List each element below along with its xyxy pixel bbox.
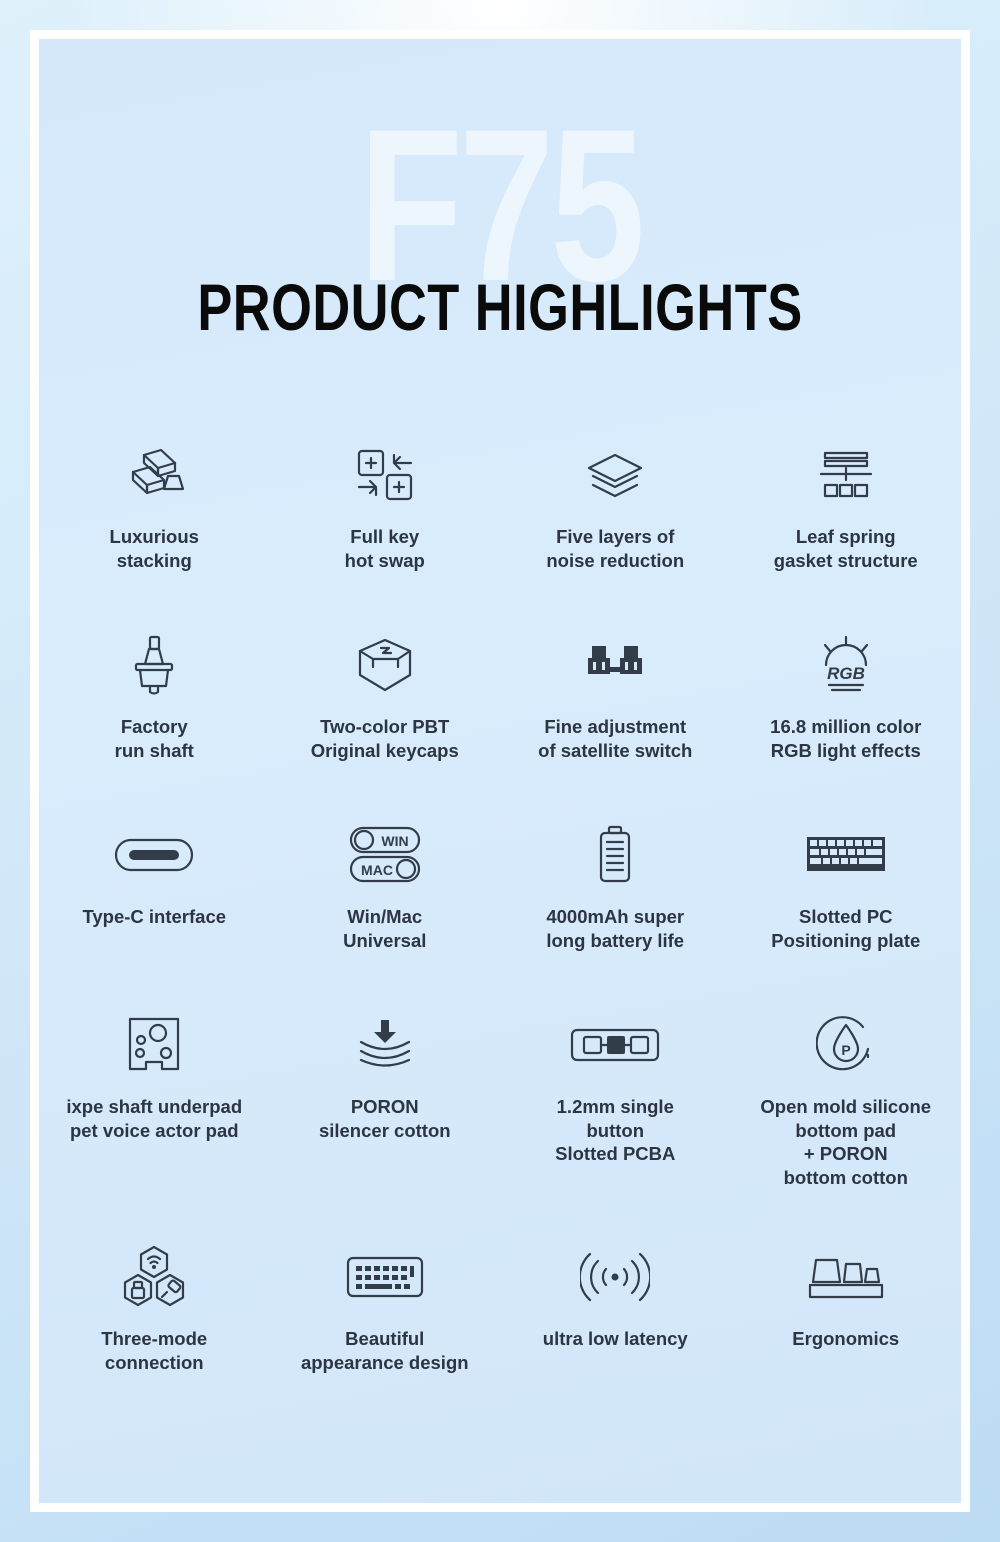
feature-label: Luxurious stacking: [106, 525, 203, 572]
feature-cell-low-latency: ultra low latency: [500, 1233, 731, 1418]
feature-cell-battery-life: 4000mAh super long battery life: [500, 811, 731, 1001]
feature-cell-type-c: Type-C interface: [39, 811, 270, 1001]
stabilizer-icon: [582, 629, 648, 701]
features-row: Three-mode connection: [39, 1233, 961, 1418]
feature-cell-rgb-light-effects: RGB 16.8 million color RGB light effects: [731, 621, 962, 811]
svg-text:P: P: [841, 1042, 850, 1058]
feature-label: 1.2mm single button Slotted PCBA: [551, 1095, 679, 1166]
feature-cell-pc-positioning-plate: Slotted PC Positioning plate: [731, 811, 962, 1001]
product-highlights-poster: F75 PRODUCT HIGHLIGHTS: [0, 0, 1000, 1542]
feature-cell-factory-run-shaft: Factory run shaft: [39, 621, 270, 811]
feature-label: Two-color PBT Original keycaps: [307, 715, 463, 762]
feature-cell-appearance-design: Beautiful appearance design: [270, 1233, 501, 1418]
feature-label: Beautiful appearance design: [297, 1327, 473, 1374]
feature-cell-full-key-hot-swap: Full key hot swap: [270, 431, 501, 621]
switch-shaft-icon: [123, 629, 185, 701]
svg-text:WIN: WIN: [381, 833, 408, 849]
pcba-icon: [569, 1009, 661, 1081]
features-row: Type-C interface WIN MAC Win/Mac Un: [39, 811, 961, 1001]
feature-label: Win/Mac Universal: [339, 905, 430, 952]
shaft-underpad-icon: [124, 1009, 184, 1081]
feature-label: Ergonomics: [788, 1327, 903, 1351]
keyboard-outline-icon: [345, 1241, 425, 1313]
features-row: ixpe shaft underpad pet voice actor pad …: [39, 1001, 961, 1233]
feature-cell-leaf-spring-gasket: Leaf spring gasket structure: [731, 431, 962, 621]
feature-cell-noise-reduction: Five layers of noise reduction: [500, 431, 731, 621]
feature-cell-pbt-keycaps: Two-color PBT Original keycaps: [270, 621, 501, 811]
feature-cell-satellite-switch: Fine adjustment of satellite switch: [500, 621, 731, 811]
win-mac-toggle-icon: WIN MAC: [343, 819, 427, 891]
hot-swap-keys-icon: [352, 439, 418, 511]
features-grid: Luxurious stacking Full key hot s: [39, 431, 961, 1418]
layers-icon: [584, 439, 646, 511]
poron-cotton-icon: [353, 1009, 417, 1081]
feature-cell-silicone-bottom-pad: P Open mold silicone bottom pad + PORON …: [731, 1001, 962, 1233]
three-mode-hex-icon: [119, 1241, 189, 1313]
features-row: Luxurious stacking Full key hot s: [39, 431, 961, 621]
gold-bars-icon: [121, 439, 187, 511]
feature-label: ixpe shaft underpad pet voice actor pad: [62, 1095, 246, 1142]
feature-label: 16.8 million color RGB light effects: [766, 715, 925, 762]
feature-label: Factory run shaft: [111, 715, 198, 762]
feature-label: Open mold silicone bottom pad + PORON bo…: [756, 1095, 935, 1190]
feature-label: Fine adjustment of satellite switch: [534, 715, 696, 762]
feature-label: 4000mAh super long battery life: [542, 905, 688, 952]
feature-cell-three-mode-connection: Three-mode connection: [39, 1233, 270, 1418]
rgb-light-icon: RGB: [812, 629, 880, 701]
feature-cell-slotted-pcba: 1.2mm single button Slotted PCBA: [500, 1001, 731, 1233]
feature-cell-win-mac: WIN MAC Win/Mac Universal: [270, 811, 501, 1001]
low-latency-signal-icon: [580, 1241, 650, 1313]
feature-label: ultra low latency: [539, 1327, 692, 1351]
battery-icon: [593, 819, 637, 891]
svg-text:MAC: MAC: [361, 862, 393, 878]
feature-cell-shaft-underpad: ixpe shaft underpad pet voice actor pad: [39, 1001, 270, 1233]
page-title: PRODUCT HIGHLIGHTS: [53, 275, 947, 341]
feature-cell-luxurious-stacking: Luxurious stacking: [39, 431, 270, 621]
svg-text:RGB: RGB: [827, 664, 865, 683]
feature-label: PORON silencer cotton: [315, 1095, 455, 1142]
keycap-icon: [353, 629, 417, 701]
feature-label: Full key hot swap: [341, 525, 429, 572]
poster-frame: F75 PRODUCT HIGHLIGHTS: [30, 30, 970, 1512]
feature-cell-poron-cotton: PORON silencer cotton: [270, 1001, 501, 1233]
feature-cell-ergonomics: Ergonomics: [731, 1233, 962, 1418]
feature-label: Five layers of noise reduction: [542, 525, 688, 572]
feature-label: Type-C interface: [78, 905, 230, 929]
silicone-droplet-icon: P: [816, 1009, 876, 1081]
feature-label: Three-mode connection: [97, 1327, 211, 1374]
ergonomics-icon: [807, 1241, 885, 1313]
feature-label: Leaf spring gasket structure: [770, 525, 922, 572]
usb-type-c-icon: [112, 819, 196, 891]
keyboard-plate-icon: [805, 819, 887, 891]
features-row: Factory run shaft Two-color PBT Original…: [39, 621, 961, 811]
feature-label: Slotted PC Positioning plate: [767, 905, 924, 952]
leaf-spring-gasket-icon: [815, 439, 877, 511]
